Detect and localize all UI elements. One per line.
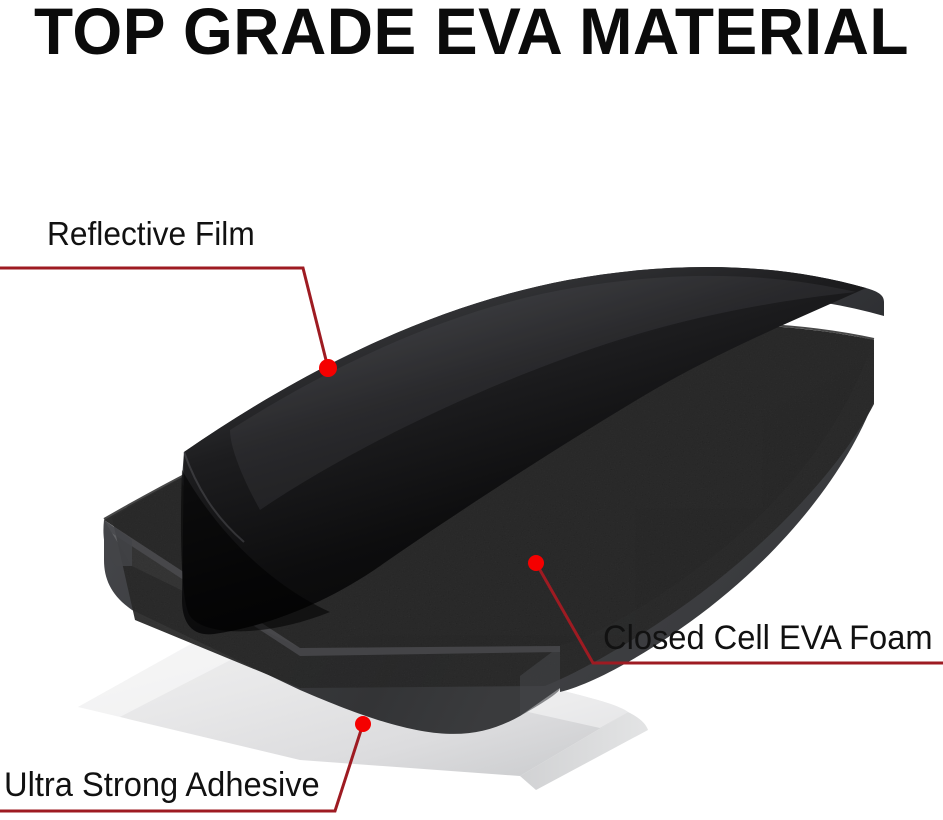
infographic-canvas: TOP GRADE EVA MATERIAL [0, 0, 943, 820]
callout-label-ultra-strong-adhesive: Ultra Strong Adhesive [4, 765, 320, 805]
marker-dot-ultra-strong-adhesive [355, 716, 371, 732]
eva-material-illustration [0, 0, 943, 820]
marker-dot-closed-cell-foam [528, 555, 544, 571]
leader-line-reflective-film [0, 268, 328, 368]
marker-dot-reflective-film [319, 359, 337, 377]
callout-label-reflective-film: Reflective Film [47, 215, 255, 253]
callout-label-closed-cell-foam: Closed Cell EVA Foam [603, 618, 933, 658]
